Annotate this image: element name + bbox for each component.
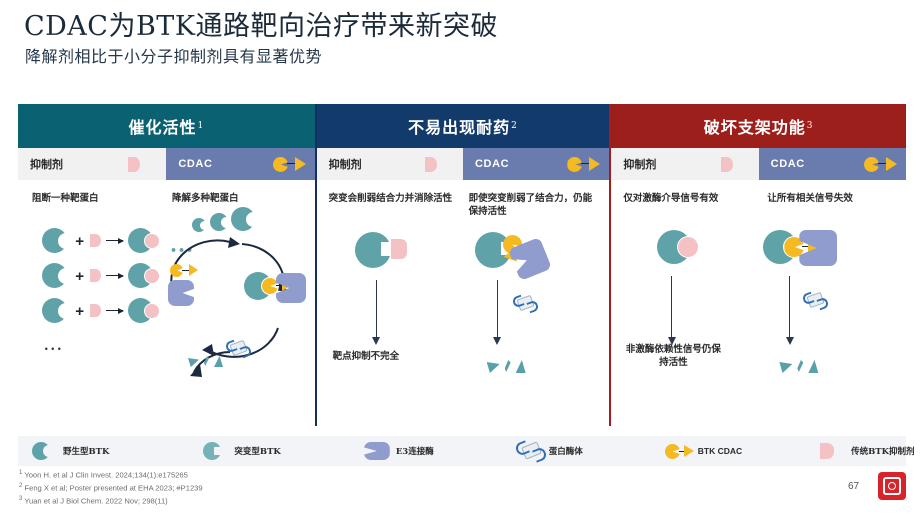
column-1-subheader-row: 抑制剂 CDAC xyxy=(18,148,315,180)
wild-type-btk-icon xyxy=(30,441,56,461)
footnotes: 1 Yoon H. et al J Clin Invest. 2024;134(… xyxy=(19,468,203,507)
column-2-header-label: 不易出现耐药 xyxy=(408,114,510,138)
column-2-subheader-row: 抑制剂 CDAC xyxy=(317,148,610,180)
traditional-btk-inhibitor-icon xyxy=(818,441,844,461)
legend-label: BTK CDAC xyxy=(698,446,742,456)
e3-ligase-icon xyxy=(799,230,837,266)
slide-root: CDAC为BTK通路靶向治疗带来新突破 降解剂相比于小分子抑制剂具有显著优势 催… xyxy=(0,0,924,514)
comparison-columns: 催化活性1 抑制剂 CDAC xyxy=(18,104,906,426)
page-title: CDAC为BTK通路靶向治疗带来新突破 xyxy=(24,10,498,44)
proteasome-icon xyxy=(803,292,829,310)
footnote-2-text: Feng X et al; Poster presented at EHA 20… xyxy=(24,483,202,492)
footnote-2: 2 Feng X et al; Poster presented at EHA … xyxy=(19,481,203,494)
legend-item-btk-cdac: BTK CDAC xyxy=(665,441,742,461)
column-3-inhibitor-subheader: 抑制剂 xyxy=(611,148,758,180)
column-3-subheader-row: 抑制剂 CDAC xyxy=(611,148,906,180)
cdac-icon xyxy=(567,155,593,173)
inhibitor-icon xyxy=(717,155,743,173)
inhibitor-icon xyxy=(124,155,150,173)
column-3-left-caption: 仅对激酶介导信号有效 xyxy=(623,192,718,205)
column-3-cdac-subheader: CDAC xyxy=(759,148,906,180)
mutant-btk-icon xyxy=(201,441,227,461)
down-arrow xyxy=(376,280,377,338)
column-1-right-caption: 降解多种靶蛋白 xyxy=(172,192,239,205)
column-1-header: 催化活性1 xyxy=(18,104,315,148)
company-logo xyxy=(878,472,906,500)
column-1-header-label: 催化活性 xyxy=(128,114,196,138)
column-2-inhibitor-label: 抑制剂 xyxy=(329,156,362,172)
down-arrow xyxy=(671,276,672,338)
footnote-3-marker: 3 xyxy=(19,496,22,502)
inhibitor-shape xyxy=(391,239,407,259)
column-resistance: 不易出现耐药2 抑制剂 CDAC xyxy=(317,104,610,426)
column-scaffold-function: 破坏支架功能3 抑制剂 CDAC xyxy=(611,104,906,426)
footnote-1-text: Yoon H. et al J Clin Invest. 2024;134(1)… xyxy=(24,471,188,480)
column-2-cdac-label: CDAC xyxy=(475,158,509,170)
footnote-1-marker: 1 xyxy=(19,470,22,476)
footnote-3: 3 Yuan et al J Biol Chem. 2022 Nov; 298(… xyxy=(19,494,203,507)
column-2-right-caption: 即使突变削弱了结合力，仍能保持活性 xyxy=(469,192,599,218)
column-1-footnote-marker: 1 xyxy=(197,121,204,131)
legend-item-traditional-btk-inhibitor: 传统BTK抑制剂 xyxy=(818,441,914,461)
degradation-fragment xyxy=(779,362,792,373)
column-3-cdac-label: CDAC xyxy=(771,158,805,170)
inhibitor-icon xyxy=(421,155,447,173)
column-2-inhibitor-subheader: 抑制剂 xyxy=(317,148,463,180)
page-subtitle: 降解剂相比于小分子抑制剂具有显著优势 xyxy=(25,46,322,68)
reaction-arrow xyxy=(106,240,123,241)
legend-label: 蛋白酶体 xyxy=(549,445,583,457)
column-1-cdac-subheader: CDAC xyxy=(166,148,314,180)
column-1-left-caption: 阻断一种靶蛋白 xyxy=(32,192,99,205)
column-3-footnote-marker: 3 xyxy=(807,121,814,131)
column-3-header: 破坏支架功能3 xyxy=(611,104,906,148)
proteasome-icon xyxy=(513,295,539,313)
footnote-1: 1 Yoon H. et al J Clin Invest. 2024;134(… xyxy=(19,468,203,481)
column-3-inhibitor-label: 抑制剂 xyxy=(623,156,656,172)
legend-item-e3-ligase: E3连接酶 xyxy=(363,441,434,461)
page-number: 67 xyxy=(848,481,859,492)
footnote-2-marker: 2 xyxy=(19,483,22,489)
column-1-inhibitor-subheader: 抑制剂 xyxy=(18,148,166,180)
btk-cdac-icon xyxy=(665,441,691,461)
degradation-fragment xyxy=(487,362,500,373)
column-2-footnote-marker: 2 xyxy=(511,121,518,131)
legend-label: E3连接酶 xyxy=(396,445,434,457)
column-2-left-caption: 突变会削弱结合力并消除活性 xyxy=(329,192,457,205)
column-2-header: 不易出现耐药2 xyxy=(317,104,610,148)
footnote-3-text: Yuan et al J Biol Chem. 2022 Nov; 298(11… xyxy=(24,496,167,505)
proteasome-icon xyxy=(516,441,542,461)
legend-label: 突变型BTK xyxy=(234,445,280,457)
inhibitor-shape xyxy=(90,234,101,247)
column-1-cdac-label: CDAC xyxy=(178,158,212,170)
cdac-icon xyxy=(864,155,890,173)
legend-label: 野生型BTK xyxy=(63,445,109,457)
legend-bar: 野生型BTK 突变型BTK E3连接酶 蛋白酶体 xyxy=(18,436,906,466)
column-3-header-label: 破坏支架功能 xyxy=(704,114,806,138)
cdac-icon xyxy=(273,155,299,173)
column-catalytic-activity: 催化活性1 抑制剂 CDAC xyxy=(18,104,315,426)
legend-item-mutant-btk: 突变型BTK xyxy=(201,441,280,461)
column-3-left-footer: 非激酶依赖性信号仍保持活性 xyxy=(621,343,725,369)
column-1-inhibitor-label: 抑制剂 xyxy=(30,156,63,172)
legend-item-wild-type-btk: 野生型BTK xyxy=(30,441,109,461)
column-1-body: 阻断一种靶蛋白 降解多种靶蛋白 + + xyxy=(18,180,315,426)
plus-sign: + xyxy=(75,234,84,249)
e3-ligase-icon xyxy=(363,441,389,461)
column-2-left-footer: 靶点抑制不完全 xyxy=(333,350,400,363)
column-3-body: 仅对激酶介导信号有效 让所有相关信号失效 xyxy=(611,180,906,426)
legend-label: 传统BTK抑制剂 xyxy=(851,445,914,457)
proteasome-icon xyxy=(226,340,252,358)
legend-item-proteasome: 蛋白酶体 xyxy=(516,441,583,461)
column-3-right-caption: 让所有相关信号失效 xyxy=(767,192,853,205)
column-2-cdac-subheader: CDAC xyxy=(463,148,609,180)
column-1-ellipsis: ... xyxy=(44,340,64,353)
column-2-body: 突变会削弱结合力并消除活性 即使突变削弱了结合力，仍能保持活性 xyxy=(317,180,610,426)
